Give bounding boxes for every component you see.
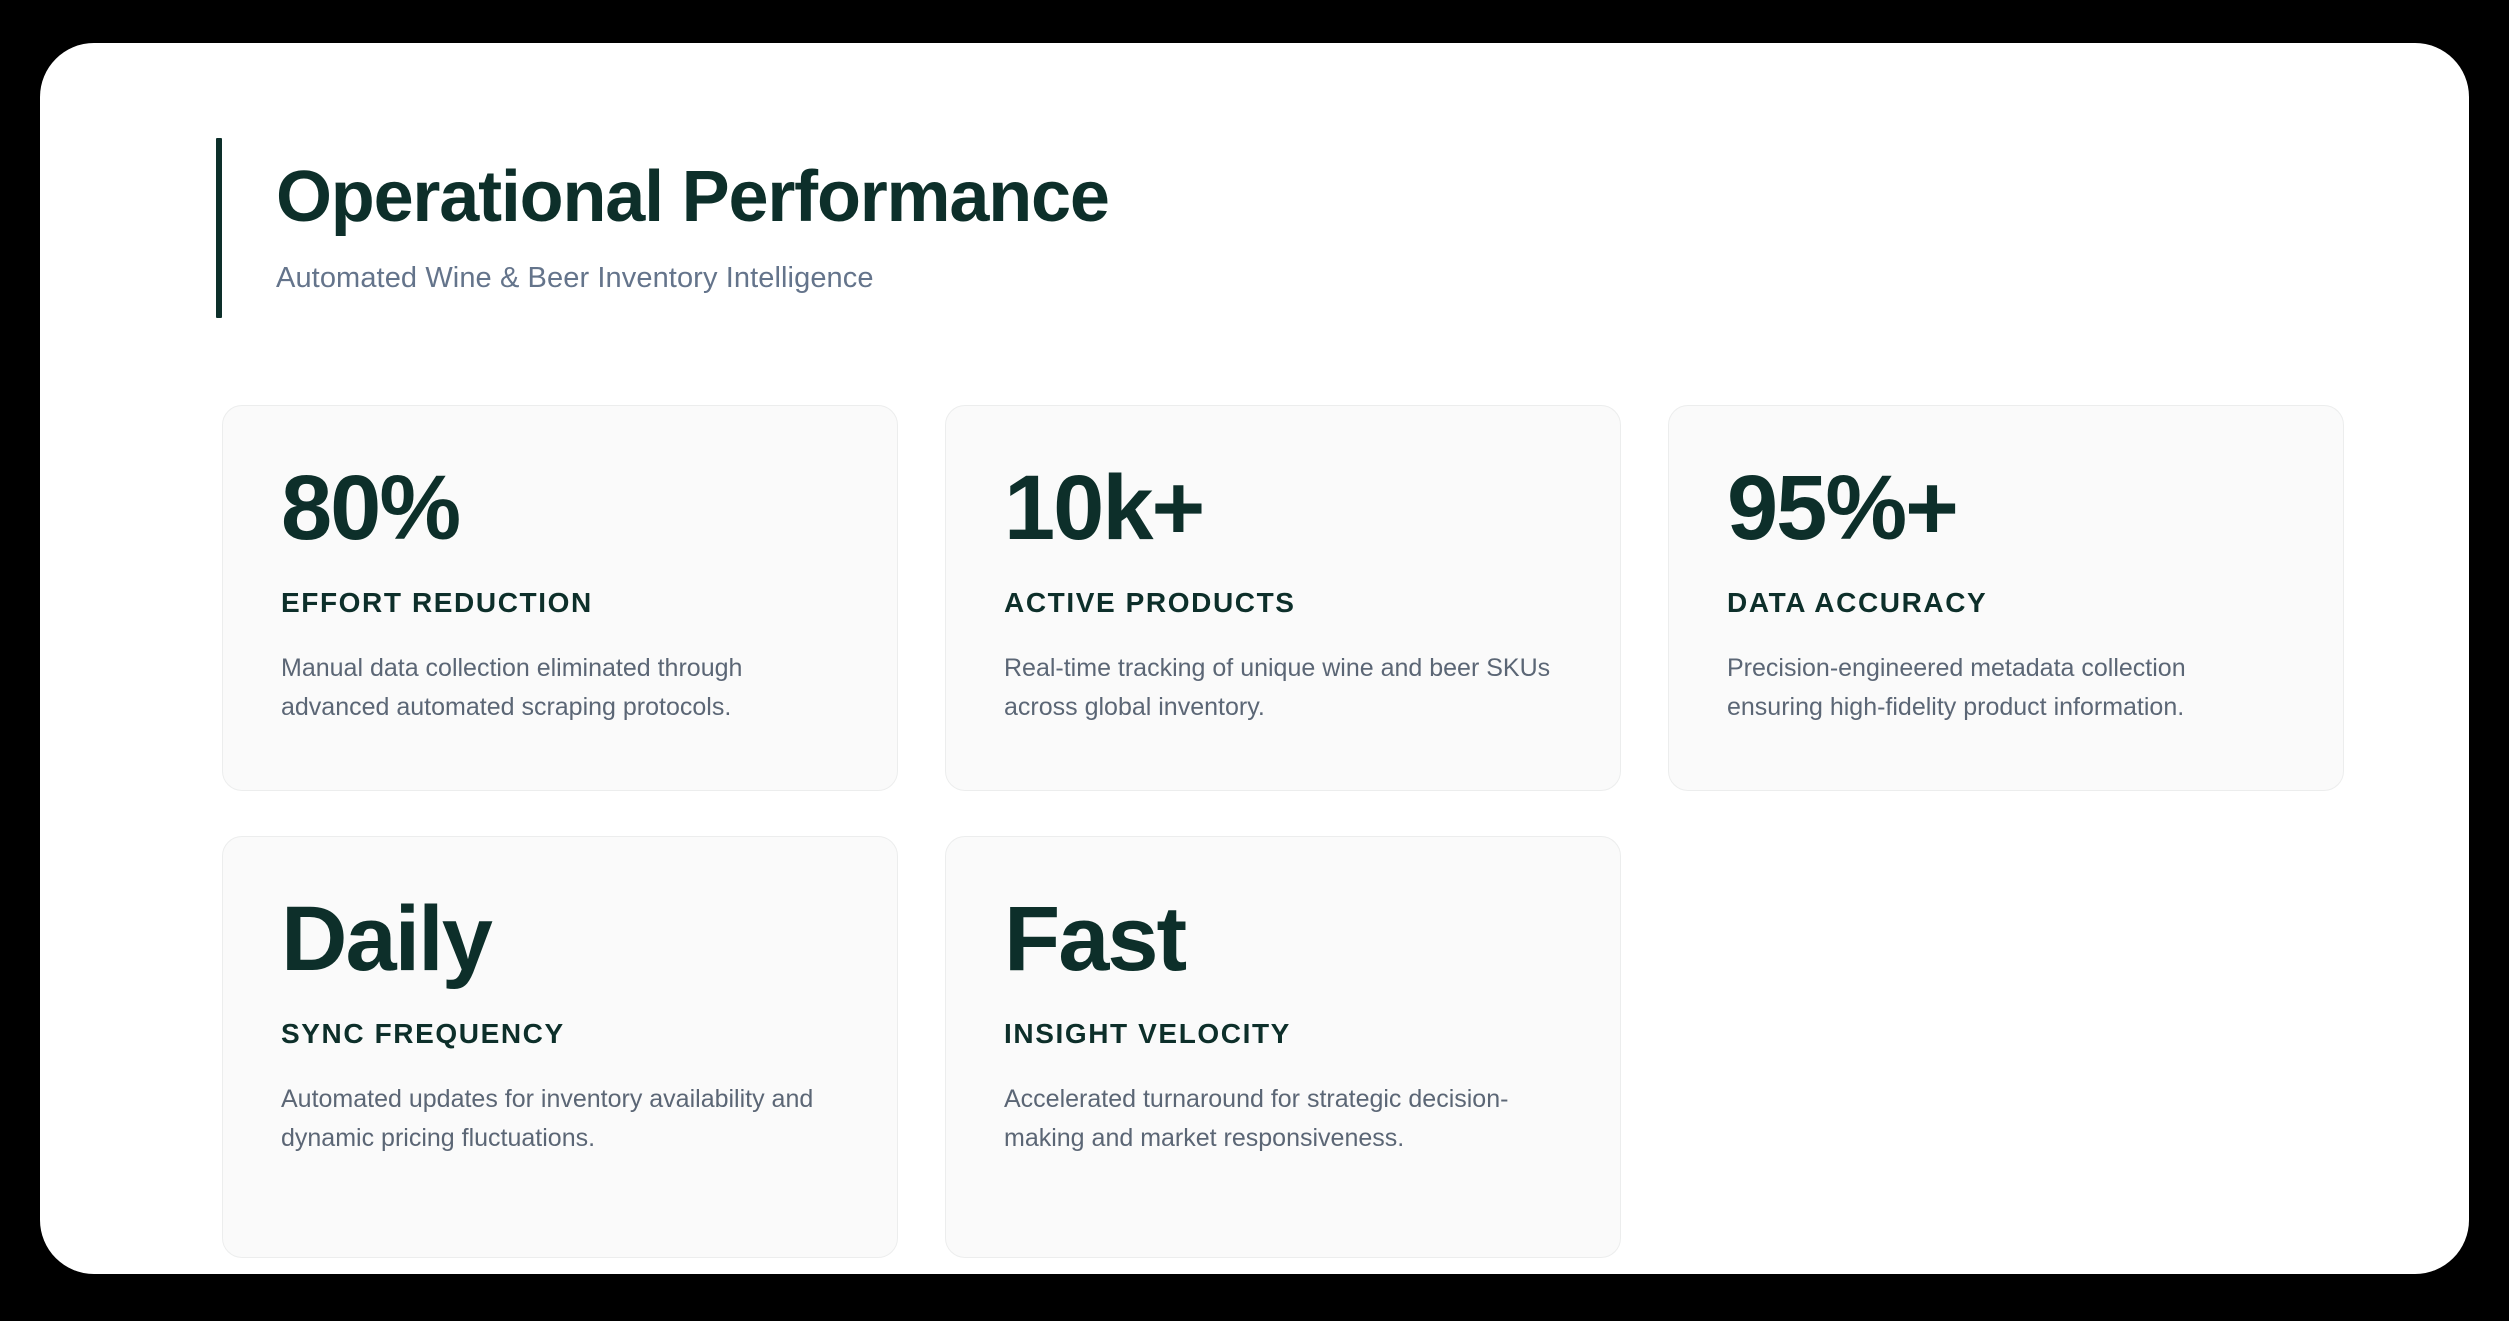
stat-card-data-accuracy[interactable]: 95%+ DATA ACCURACY Precision-engineered …	[1668, 405, 2344, 791]
stat-card-sync-frequency[interactable]: Daily SYNC FREQUENCY Automated updates f…	[222, 836, 898, 1258]
page-title: Operational Performance	[276, 160, 1109, 236]
dashboard-panel: Operational Performance Automated Wine &…	[40, 43, 2469, 1274]
stat-label: EFFORT REDUCTION	[281, 588, 839, 619]
stats-grid: 80% EFFORT REDUCTION Manual data collect…	[222, 405, 2355, 1258]
stat-label: SYNC FREQUENCY	[281, 1019, 839, 1050]
stat-description: Manual data collection eliminated throug…	[281, 649, 839, 727]
stat-label: INSIGHT VELOCITY	[1004, 1019, 1562, 1050]
stat-card-active-products[interactable]: 10k+ ACTIVE PRODUCTS Real-time tracking …	[945, 405, 1621, 791]
page-header: Operational Performance Automated Wine &…	[216, 138, 1109, 318]
page-subtitle: Automated Wine & Beer Inventory Intellig…	[276, 261, 1109, 296]
stat-description: Accelerated turnaround for strategic dec…	[1004, 1080, 1562, 1158]
stat-label: ACTIVE PRODUCTS	[1004, 588, 1562, 619]
header-text-block: Operational Performance Automated Wine &…	[222, 138, 1109, 318]
stat-value: 10k+	[1004, 462, 1562, 554]
stat-description: Real-time tracking of unique wine and be…	[1004, 649, 1562, 727]
stat-value: Fast	[1004, 893, 1562, 985]
stat-description: Automated updates for inventory availabi…	[281, 1080, 839, 1158]
stat-value: 95%+	[1727, 462, 2285, 554]
stat-label: DATA ACCURACY	[1727, 588, 2285, 619]
stat-description: Precision-engineered metadata collection…	[1727, 649, 2285, 727]
stat-card-effort-reduction[interactable]: 80% EFFORT REDUCTION Manual data collect…	[222, 405, 898, 791]
stat-card-insight-velocity[interactable]: Fast INSIGHT VELOCITY Accelerated turnar…	[945, 836, 1621, 1258]
stat-value: Daily	[281, 893, 839, 985]
stat-value: 80%	[281, 462, 839, 554]
